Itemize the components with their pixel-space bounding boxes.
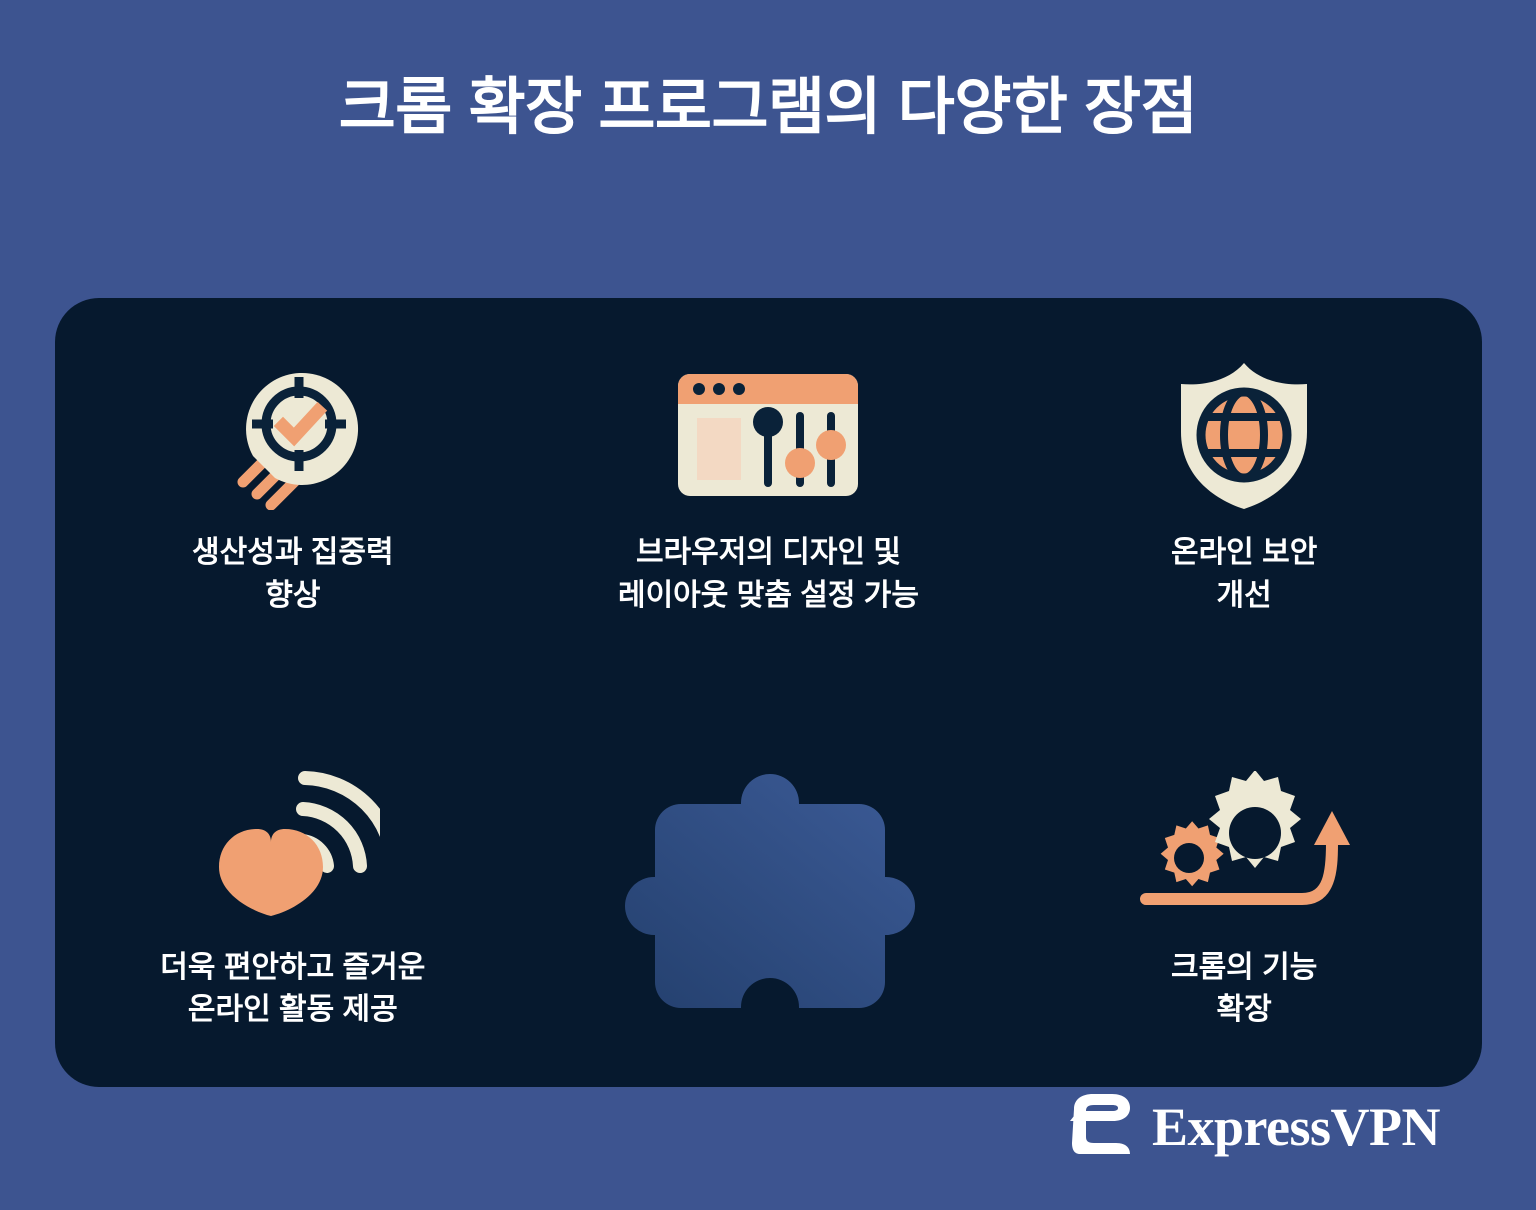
- heart-signal-icon: [205, 761, 380, 921]
- expressvpn-e-mark-icon: [1060, 1087, 1134, 1166]
- benefit-item-comfort: 더욱 편안하고 즐거운 온라인 활동 제공: [55, 693, 531, 1088]
- expressvpn-logo: ExpressVPN: [1060, 1087, 1440, 1166]
- puzzle-piece-icon: [618, 746, 918, 1034]
- expressvpn-wordmark: ExpressVPN: [1152, 1100, 1440, 1154]
- lightbulb-target-icon: [213, 360, 373, 510]
- benefit-item-extend: 크롬의 기능 확장: [1006, 693, 1482, 1088]
- benefits-grid: 생산성과 집중력 향상: [55, 298, 1482, 1087]
- benefit-item-customization: 브라우저의 디자인 및 레이아웃 맞춤 설정 가능: [531, 298, 1007, 693]
- benefit-label: 브라우저의 디자인 및 레이아웃 맞춤 설정 가능: [618, 532, 919, 617]
- benefit-label: 온라인 보안 개선: [1171, 532, 1317, 617]
- benefit-item-security: 온라인 보안 개선: [1006, 298, 1482, 693]
- benefit-item-puzzle: [531, 693, 1007, 1088]
- shield-globe-icon: [1169, 360, 1319, 510]
- benefits-card: 생산성과 집중력 향상: [55, 298, 1482, 1087]
- benefit-item-productivity: 생산성과 집중력 향상: [55, 298, 531, 693]
- benefit-label: 크롬의 기능 확장: [1171, 947, 1317, 1032]
- benefit-label: 생산성과 집중력 향상: [192, 532, 394, 617]
- gears-growth-arrow-icon: [1134, 761, 1354, 921]
- browser-settings-sliders-icon: [673, 360, 863, 510]
- page-title: 크롬 확장 프로그램의 다양한 장점: [0, 74, 1536, 142]
- benefit-label: 더욱 편안하고 즐거운 온라인 활동 제공: [160, 947, 425, 1032]
